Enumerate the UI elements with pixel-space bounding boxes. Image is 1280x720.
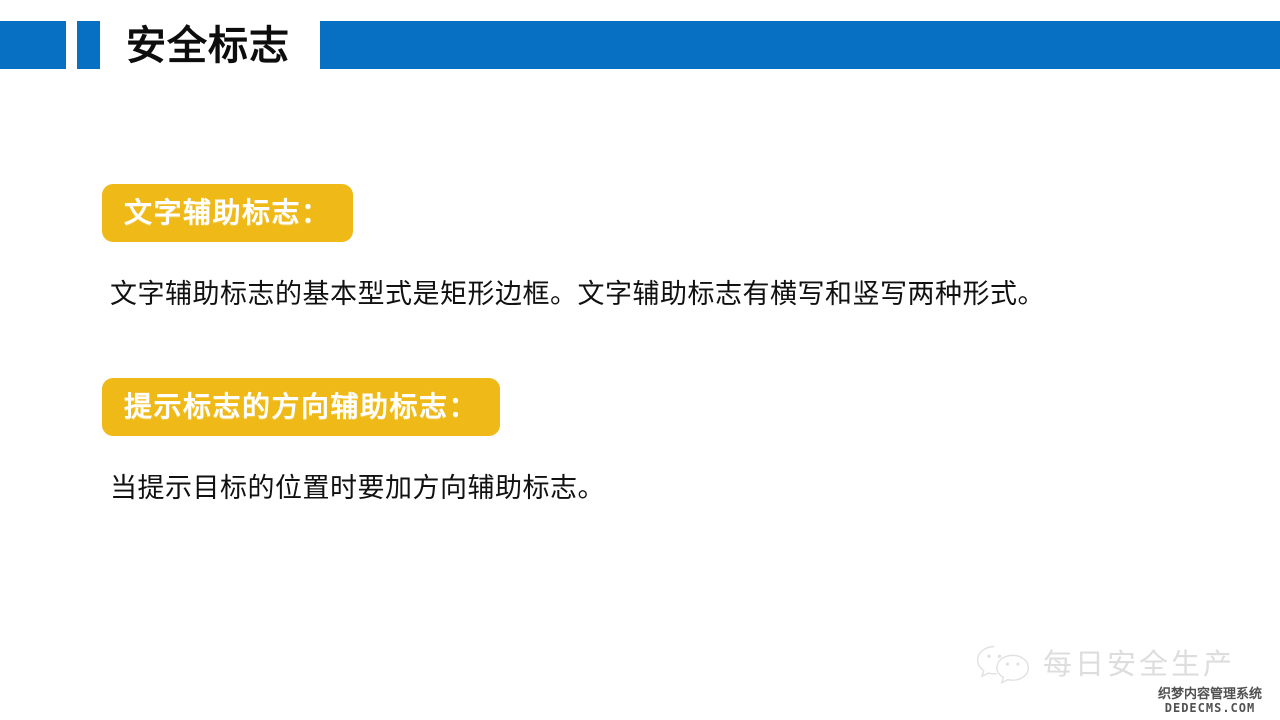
- wechat-watermark-label: 每日安全生产: [1043, 643, 1235, 687]
- header-accent-block-left: [0, 21, 66, 69]
- slide-header: 安全标志: [0, 0, 1280, 92]
- slide-canvas: 安全标志 文字辅助标志： 文字辅助标志的基本型式是矩形边框。文字辅助标志有横写和…: [0, 0, 1280, 720]
- section-badge-2: 提示标志的方向辅助标志：: [102, 378, 500, 436]
- wechat-icon: [975, 643, 1031, 687]
- section-body-2: 当提示目标的位置时要加方向辅助标志。: [110, 468, 605, 508]
- dedecms-watermark: 织梦内容管理系统 DEDECMS.COM: [1144, 686, 1276, 715]
- section-badge-1: 文字辅助标志：: [102, 184, 353, 242]
- section-body-1: 文字辅助标志的基本型式是矩形边框。文字辅助标志有横写和竖写两种形式。: [110, 274, 1045, 314]
- wechat-watermark: 每日安全生产: [975, 638, 1225, 692]
- dedecms-watermark-english: DEDECMS.COM: [1144, 701, 1276, 715]
- header-accent-block-tick: [77, 21, 100, 69]
- dedecms-watermark-chinese: 织梦内容管理系统: [1144, 686, 1276, 701]
- header-accent-bar-right: [320, 21, 1280, 69]
- page-title: 安全标志: [126, 18, 316, 74]
